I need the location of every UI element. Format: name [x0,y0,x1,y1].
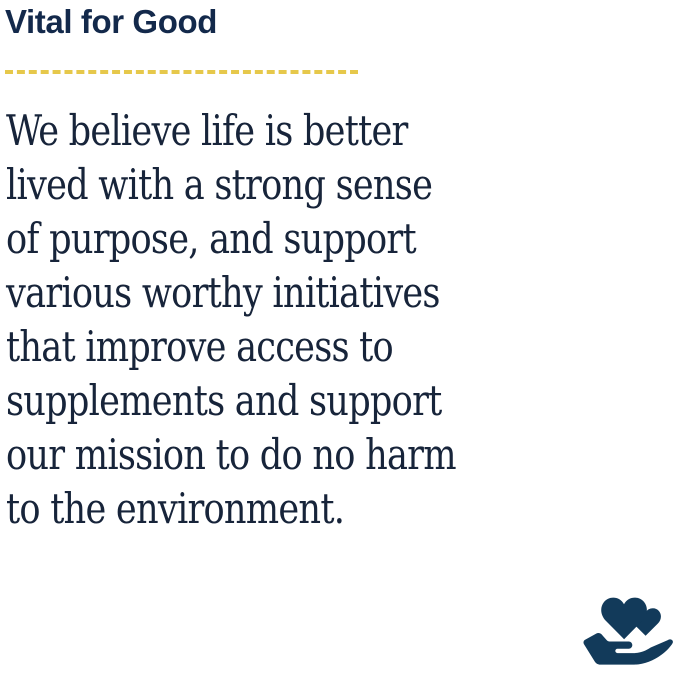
hand-shape [583,633,672,665]
body-line: We believe life is better [6,104,564,158]
hand-holding-hearts-icon [570,592,674,676]
dashed-divider [5,70,358,76]
dashed-divider-rule [5,70,358,74]
body-line: lived with a strong sense [6,158,564,212]
body-line: of purpose, and support [6,212,564,266]
body-line: that improve access to [6,320,564,374]
body-line: our mission to do no harm [6,428,564,482]
vital-for-good-card: Vital for Good We believe life is better… [0,0,679,679]
page-title: Vital for Good [5,2,217,42]
large-heart-shape [601,598,647,640]
body-line: to the environment. [6,482,564,536]
body-paragraph: We believe life is better lived with a s… [6,104,564,536]
body-line: supplements and support [6,374,564,428]
body-line: various worthy initiatives [6,266,564,320]
